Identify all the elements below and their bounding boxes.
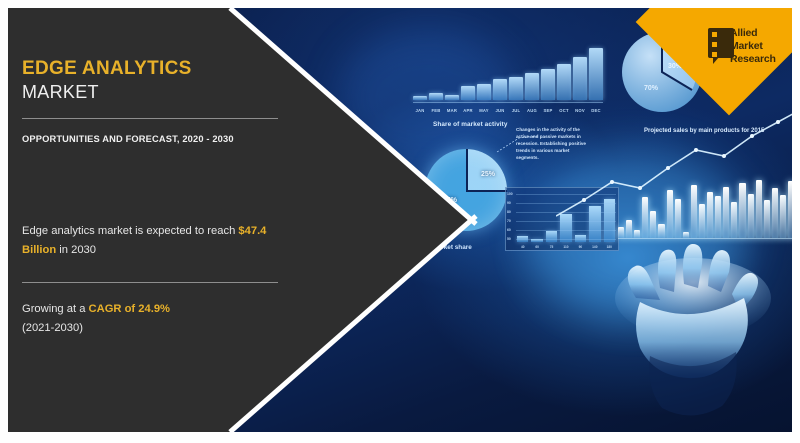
spectrum-bar xyxy=(772,188,778,238)
spectrum-bar xyxy=(675,199,681,238)
spectrum-bar xyxy=(739,183,745,238)
spectrum-bar xyxy=(715,196,721,238)
speech-bubble-tail xyxy=(713,57,719,64)
monthly-axis-label: AUG xyxy=(525,108,539,113)
brand-logo: Allied Market Research xyxy=(708,26,786,72)
monthly-bar xyxy=(541,69,555,100)
spectrum-bar xyxy=(707,192,713,238)
framed-x-tick: 40 xyxy=(517,245,528,249)
pie-secondary-label-b: 70% xyxy=(644,85,659,92)
monthly-bar xyxy=(573,57,587,100)
monthly-axis-label: SEP xyxy=(541,108,555,113)
logo-marker xyxy=(712,52,717,57)
spectrum-bar xyxy=(650,211,656,238)
framed-x-tick: 60 xyxy=(531,245,542,249)
logo-marker xyxy=(712,42,717,47)
monthly-axis-label: FEB xyxy=(429,108,443,113)
divider-top xyxy=(22,118,278,119)
stat-cagr-period: (2021-2030) xyxy=(22,322,83,334)
spectrum-bar xyxy=(756,180,762,238)
spectrum-bar xyxy=(642,197,648,238)
spectrum-bar xyxy=(723,187,729,238)
spectrum-bar xyxy=(667,190,673,238)
framed-y-tick: 60 xyxy=(507,228,511,232)
logo-line-3: Research xyxy=(730,54,776,65)
framed-gridline xyxy=(516,230,616,231)
spectrum-bar xyxy=(691,185,697,238)
stat-cagr-value: CAGR of 24.9% xyxy=(89,303,170,315)
monthly-bar xyxy=(509,77,523,100)
monthly-bars-plot xyxy=(413,46,603,100)
stat-market-size-prefix: Edge analytics market is expected to rea… xyxy=(22,225,238,237)
monthly-axis-label: APR xyxy=(461,108,475,113)
stat-market-size: Edge analytics market is expected to rea… xyxy=(22,222,284,261)
pie-slice-label-25: 25% xyxy=(481,171,495,178)
framed-y-tick: 90 xyxy=(507,201,511,205)
monthly-bar xyxy=(477,84,491,100)
pie-slice-divider xyxy=(466,149,468,190)
framed-y-tick: 50 xyxy=(507,237,511,241)
logo-marker xyxy=(712,32,717,37)
framed-x-tick: 90 xyxy=(575,245,586,249)
monthly-bar xyxy=(429,93,443,100)
stat-cagr-prefix: Growing at a xyxy=(22,303,89,315)
report-subtitle: OPPORTUNITIES AND FORECAST, 2020 - 2030 xyxy=(22,132,280,147)
monthly-bar xyxy=(461,86,475,100)
framed-y-tick: 80 xyxy=(507,210,511,214)
monthly-axis-label: MAR xyxy=(445,108,459,113)
spectrum-bar xyxy=(788,181,792,238)
spectrum-bar xyxy=(764,200,770,238)
spectrum-bar xyxy=(780,195,786,238)
chart-spectrum-bars xyxy=(618,176,792,238)
framed-x-tick: 110 xyxy=(560,245,571,249)
monthly-bar xyxy=(445,95,459,100)
logo-line-2: Market xyxy=(730,41,763,52)
logo-dash xyxy=(719,42,730,47)
spectrum-bar xyxy=(731,202,737,238)
framed-y-tick: 100 xyxy=(507,192,513,196)
page-title-rest: MARKET xyxy=(22,82,99,103)
framed-x-tick: 75 xyxy=(546,245,557,249)
pie-slice-divider xyxy=(466,190,507,192)
spectrum-bar xyxy=(699,204,705,238)
chart-monthly-bars: JANFEBMARAPRMAYJUNJULAUGSEPOCTNOVDEC xyxy=(413,44,603,114)
market-report-banner: JANFEBMARAPRMAYJUNJULAUGSEPOCTNOVDEC Sha… xyxy=(0,0,800,443)
stat-market-size-suffix: in 2030 xyxy=(56,244,96,256)
framed-bar xyxy=(546,231,557,242)
page-title-highlight: EDGE ANALYTICS xyxy=(22,58,192,80)
spectrum-bar xyxy=(748,194,754,238)
monthly-bar xyxy=(493,79,507,100)
monthly-axis-label: JUN xyxy=(493,108,507,113)
divider-bottom xyxy=(22,282,278,283)
logo-line-1: Allied xyxy=(730,28,757,39)
logo-dash xyxy=(719,52,730,57)
framed-y-tick: 70 xyxy=(507,219,511,223)
projected-sales-title: Projected sales by main products for 201… xyxy=(644,128,764,134)
pie-activity-title: Share of market activity xyxy=(433,121,508,128)
monthly-axis-line xyxy=(413,102,603,103)
monthly-bar xyxy=(557,64,571,100)
monthly-axis-label: JUL xyxy=(509,108,523,113)
monthly-bar xyxy=(525,73,539,100)
stat-cagr: Growing at a CAGR of 24.9% (2021-2030) xyxy=(22,300,284,339)
monthly-axis-label: JAN xyxy=(413,108,427,113)
monthly-bar xyxy=(589,48,603,100)
monthly-axis-label: MAY xyxy=(477,108,491,113)
monthly-bar xyxy=(413,96,427,100)
glowing-hand-graphic xyxy=(588,236,792,432)
